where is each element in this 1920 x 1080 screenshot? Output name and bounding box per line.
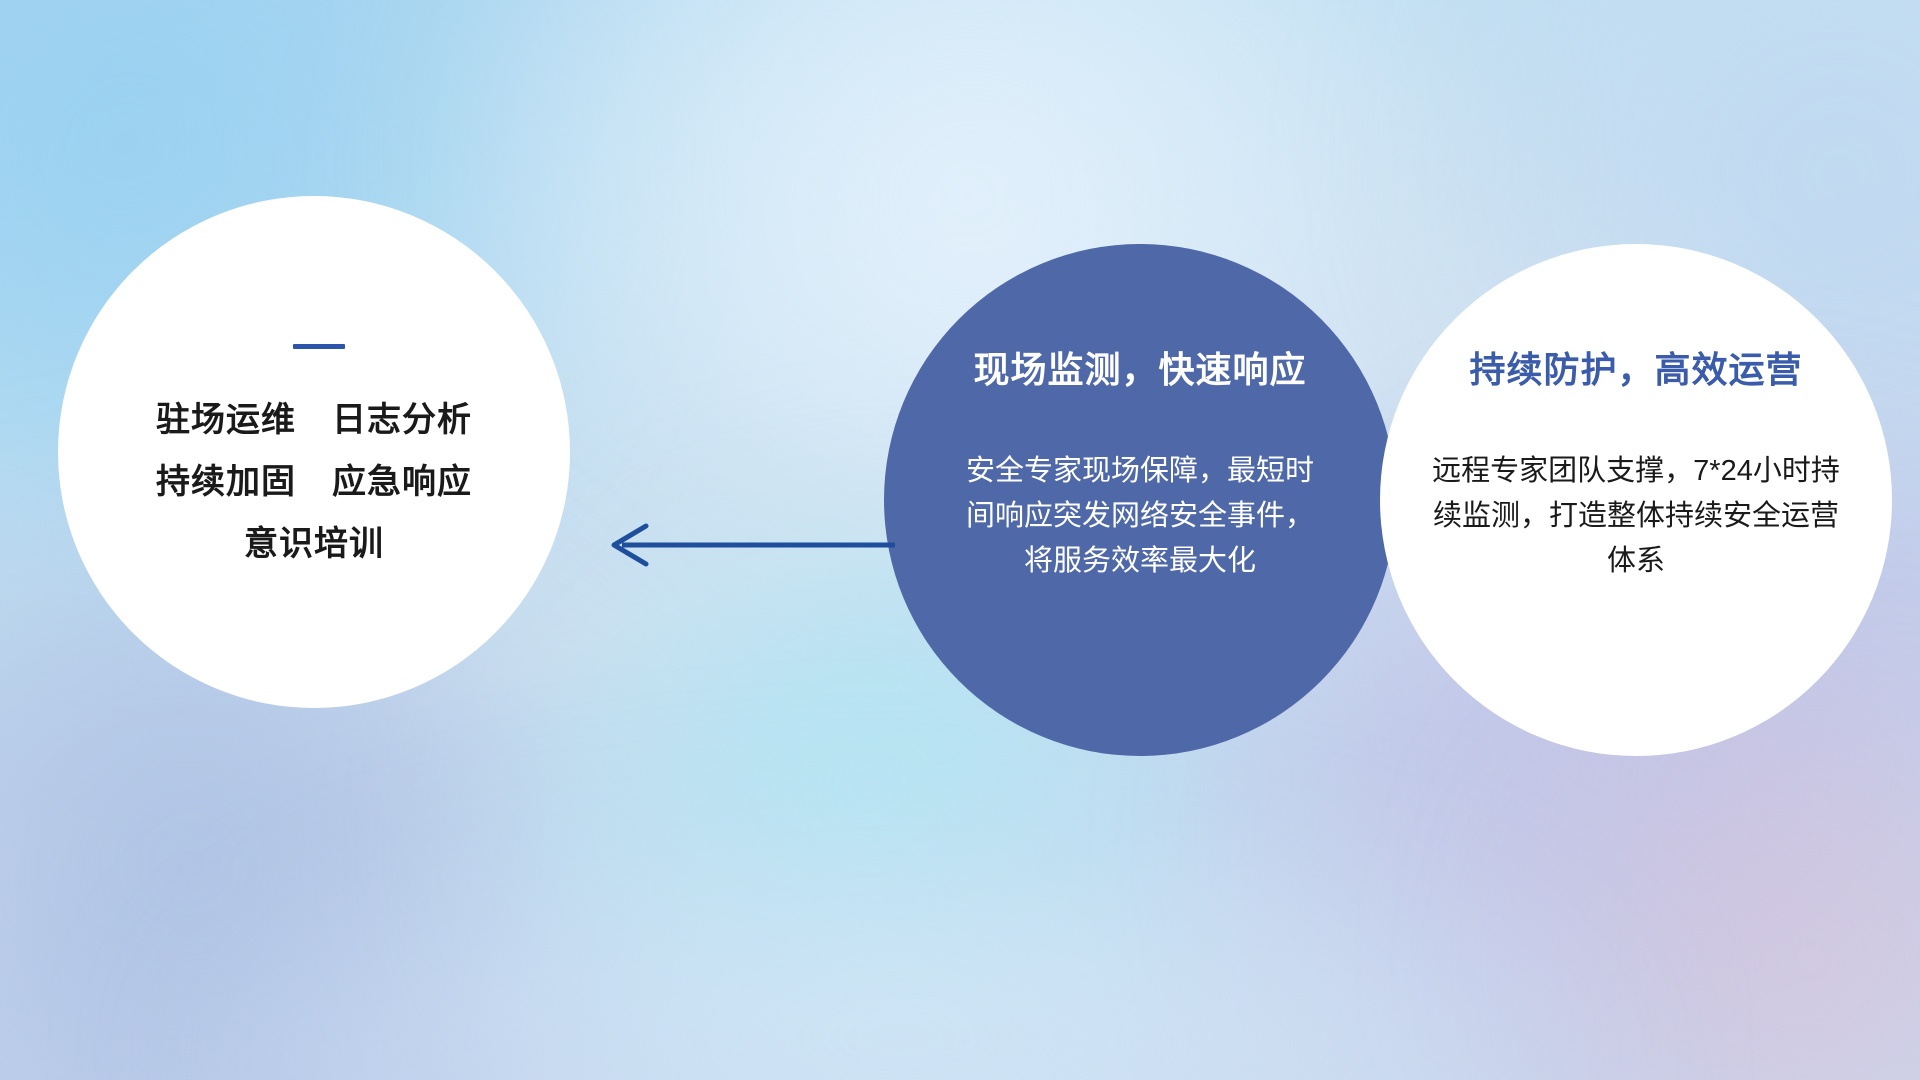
service-tag: 日志分析 bbox=[332, 403, 472, 437]
tag-row: 意识培训 bbox=[244, 527, 384, 561]
middle-card[interactable]: 现场监测，快速响应 安全专家现场保障，最短时间响应突发网络安全事件，将服务效率最… bbox=[884, 244, 1396, 756]
right-card[interactable]: 持续防护，高效运营 远程专家团队支撑，7*24小时持续监测，打造整体持续安全运营… bbox=[1380, 244, 1892, 756]
right-card-body: 远程专家团队支撑，7*24小时持续监测，打造整体持续安全运营体系 bbox=[1426, 449, 1846, 584]
middle-card-body: 安全专家现场保障，最短时间响应突发网络安全事件，将服务效率最大化 bbox=[965, 449, 1315, 584]
tag-row: 驻场运维 日志分析 bbox=[156, 403, 472, 437]
slide-canvas: 驻场运维 日志分析 持续加固 应急响应 意识培训 现场监测，快速响应 安全专家现… bbox=[0, 0, 1920, 1080]
service-tag: 持续加固 bbox=[156, 465, 296, 499]
middle-card-title: 现场监测，快速响应 bbox=[973, 348, 1306, 391]
right-card-title: 持续防护，高效运营 bbox=[1469, 348, 1802, 391]
service-tag: 驻场运维 bbox=[156, 403, 296, 437]
tag-row: 持续加固 应急响应 bbox=[156, 465, 472, 499]
service-tag: 应急响应 bbox=[332, 465, 472, 499]
service-tag-list: 驻场运维 日志分析 持续加固 应急响应 意识培训 bbox=[156, 403, 472, 561]
divider-dash-icon bbox=[293, 344, 345, 349]
left-card[interactable]: 驻场运维 日志分析 持续加固 应急响应 意识培训 bbox=[58, 196, 570, 708]
service-tag: 意识培训 bbox=[244, 527, 384, 561]
left-arrow-icon bbox=[600, 510, 900, 580]
